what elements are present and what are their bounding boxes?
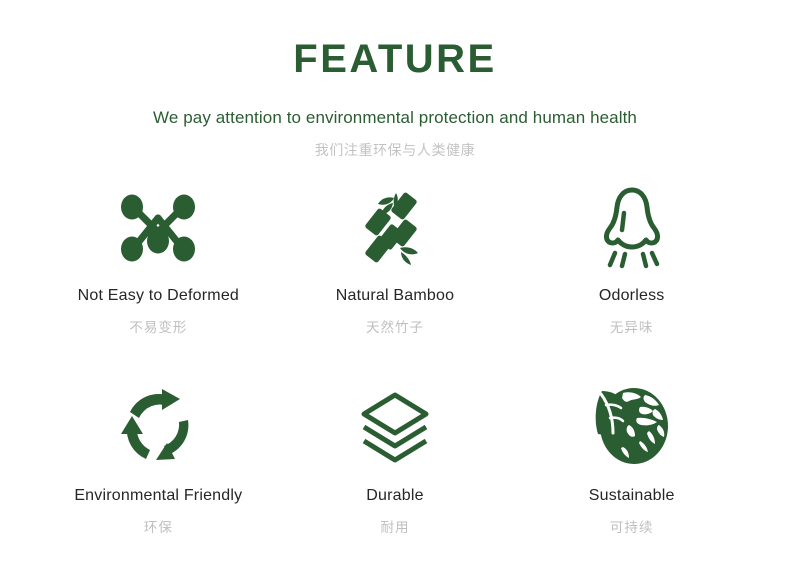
page-title: FEATURE: [0, 36, 790, 82]
feature-label-cn: 可持续: [610, 516, 654, 536]
globe-leaf-icon: [593, 380, 671, 472]
section-header: FEATURE We pay attention to environmenta…: [0, 0, 790, 160]
bamboo-stalks-icon: [360, 184, 430, 272]
feature-grid: Not Easy to Deformed 不易变形: [0, 184, 790, 576]
feature-item-sustainable: Sustainable 可持续: [513, 380, 750, 576]
subtitle-chinese: 我们注重环保与人类健康: [0, 140, 790, 160]
feature-label-en: Sustainable: [589, 486, 675, 505]
feature-label-en: Natural Bamboo: [336, 286, 454, 305]
molecule-lattice-icon: [119, 184, 197, 272]
feature-label-en: Not Easy to Deformed: [78, 286, 239, 305]
stacked-layers-icon: [358, 380, 432, 472]
feature-label-cn: 耐用: [380, 516, 409, 536]
feature-label-en: Environmental Friendly: [74, 486, 242, 505]
nose-smell-icon: [598, 184, 666, 272]
subtitle-english: We pay attention to environmental protec…: [0, 108, 790, 128]
feature-item-durable: Durable 耐用: [277, 380, 514, 576]
feature-label-en: Odorless: [599, 286, 665, 305]
feature-label-cn: 环保: [144, 516, 173, 536]
recycle-arrows-icon: [118, 380, 198, 472]
feature-label-en: Durable: [366, 486, 423, 505]
feature-item-not-easy-to-deformed: Not Easy to Deformed 不易变形: [40, 184, 277, 380]
feature-label-cn: 无异味: [610, 316, 654, 336]
feature-label-cn: 不易变形: [129, 316, 187, 336]
feature-item-natural-bamboo: Natural Bamboo 天然竹子: [277, 184, 514, 380]
feature-label-cn: 天然竹子: [366, 316, 424, 336]
feature-item-odorless: Odorless 无异味: [513, 184, 750, 380]
feature-section: FEATURE We pay attention to environmenta…: [0, 0, 790, 576]
feature-item-environmental-friendly: Environmental Friendly 环保: [40, 380, 277, 576]
